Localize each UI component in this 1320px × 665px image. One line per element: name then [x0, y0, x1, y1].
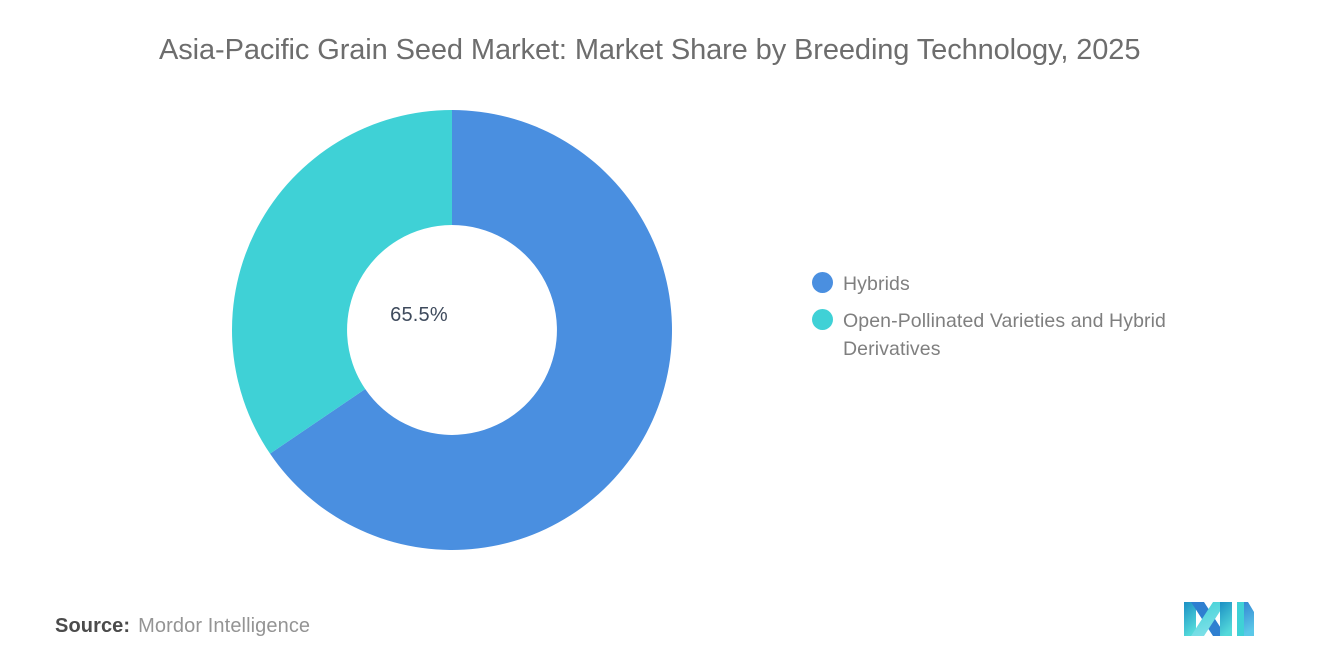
- donut-chart: 65.5%: [232, 110, 672, 550]
- legend-item-hybrids[interactable]: Hybrids: [812, 270, 1232, 298]
- mi-logo-svg: [1182, 598, 1256, 640]
- legend-swatch-circle-icon: [812, 309, 833, 330]
- mordor-intelligence-logo-icon: [1182, 598, 1256, 640]
- legend-item-label: Open-Pollinated Varieties and Hybrid Der…: [843, 307, 1221, 363]
- page-title: Asia-Pacific Grain Seed Market: Market S…: [159, 30, 1249, 70]
- chart-legend: Hybrids Open-Pollinated Varieties and Hy…: [812, 270, 1232, 372]
- legend-swatch-circle-icon: [812, 272, 833, 293]
- donut-slice-label-hybrids: 65.5%: [352, 304, 486, 327]
- source-label: Source:: [55, 615, 130, 637]
- donut-chart-svg: [232, 110, 672, 550]
- donut-slice-open-pollinated[interactable]: [232, 110, 452, 454]
- legend-item-open-pollinated[interactable]: Open-Pollinated Varieties and Hybrid Der…: [812, 307, 1232, 363]
- chart-canvas: Asia-Pacific Grain Seed Market: Market S…: [0, 0, 1320, 665]
- legend-item-label: Hybrids: [843, 270, 910, 298]
- source-attribution: Source:Mordor Intelligence: [55, 611, 310, 641]
- source-value: Mordor Intelligence: [138, 615, 310, 637]
